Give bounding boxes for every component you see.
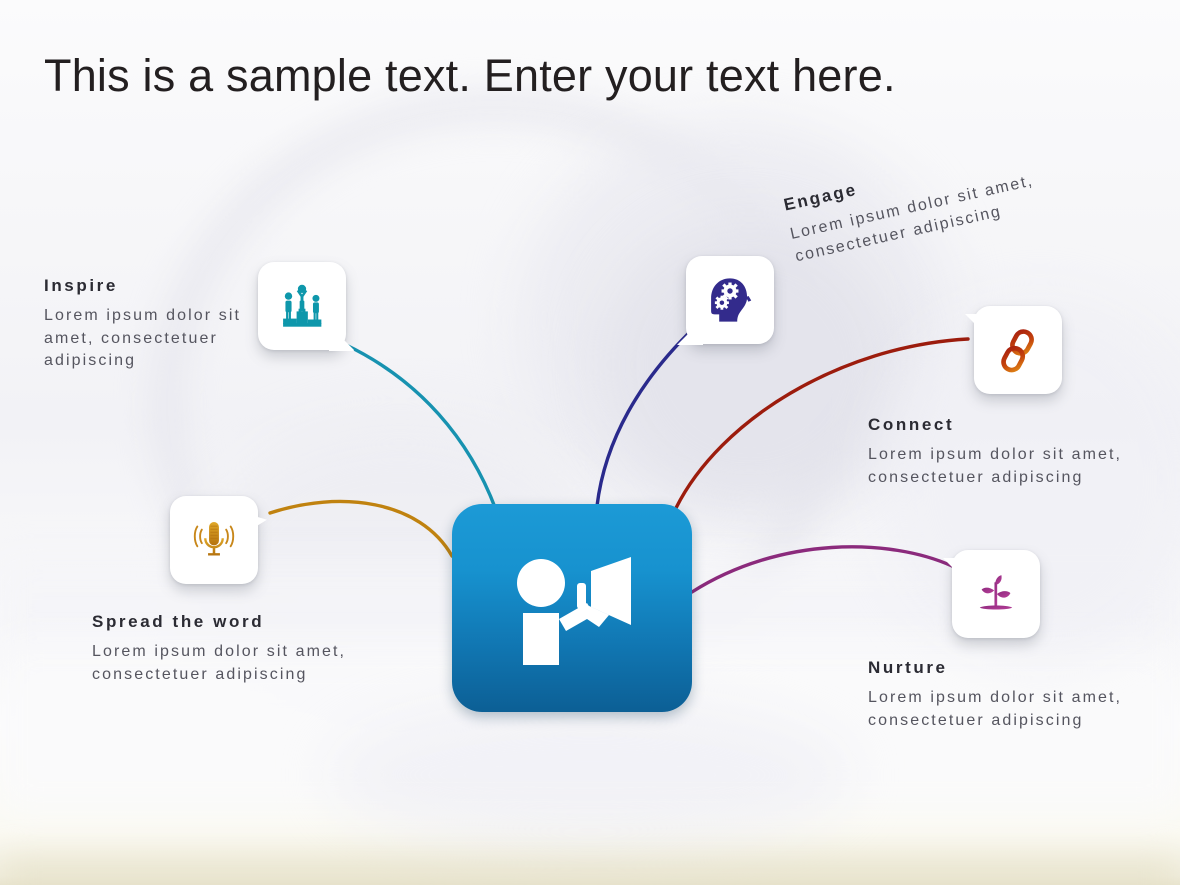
node-description-inspire: Lorem ipsum dolor sit amet, consectetuer… (44, 305, 254, 373)
node-title-nurture: Nurture (868, 658, 1168, 678)
microphone-broadcast-icon (187, 513, 241, 567)
text-block-connect: Connect Lorem ipsum dolor sit amet, cons… (868, 415, 1168, 489)
node-tile-inspire[interactable] (258, 262, 346, 350)
connector-nurture (692, 547, 952, 592)
node-title-spread-the-word: Spread the word (92, 612, 392, 632)
connector-spread-the-word (270, 501, 452, 556)
center-megaphone-tile[interactable] (452, 504, 692, 712)
node-tile-spread-the-word[interactable] (170, 496, 258, 584)
node-description-connect: Lorem ipsum dolor sit amet, consectetuer… (868, 444, 1168, 489)
seedling-plant-icon (969, 567, 1023, 621)
node-description-nurture: Lorem ipsum dolor sit amet, consectetuer… (868, 687, 1168, 732)
node-tile-connect[interactable] (974, 306, 1062, 394)
node-title-connect: Connect (868, 415, 1168, 435)
connector-engage (597, 328, 694, 506)
text-block-nurture: Nurture Lorem ipsum dolor sit amet, cons… (868, 658, 1168, 732)
text-block-spread-the-word: Spread the word Lorem ipsum dolor sit am… (92, 612, 392, 686)
podium-winners-icon (275, 279, 329, 333)
head-gears-icon (703, 273, 757, 327)
slide-canvas: This is a sample text. Enter your text h… (0, 0, 1180, 885)
node-description-spread-the-word: Lorem ipsum dolor sit amet, consectetuer… (92, 641, 392, 686)
node-title-inspire: Inspire (44, 276, 254, 296)
text-block-inspire: Inspire Lorem ipsum dolor sit amet, cons… (44, 276, 254, 373)
chain-link-icon (991, 323, 1045, 377)
node-tile-nurture[interactable] (952, 550, 1040, 638)
node-tile-engage[interactable] (686, 256, 774, 344)
megaphone-person-icon (497, 543, 647, 673)
connector-inspire (344, 344, 496, 510)
